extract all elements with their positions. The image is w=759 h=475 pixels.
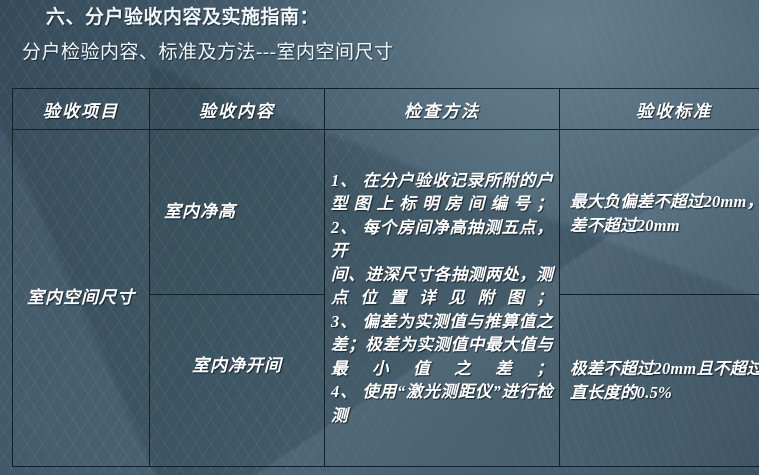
cell-inspection-method: 1、 在分户验收记录所附的户 型图上标明房间编号； 2、 每个房间净高抽测五点，…: [325, 130, 560, 467]
table-row: 室内空间尺寸 室内净高 1、 在分户验收记录所附的户 型图上标明房间编号； 2、…: [13, 130, 759, 295]
column-header-content: 验收内容: [150, 89, 325, 130]
cell-content-clear-height: 室内净高: [150, 130, 325, 295]
inspection-table: 验收项目 验收内容 检查方法 验收标准 室内空间尺寸 室内净高 1、 在分户验收…: [12, 88, 759, 467]
method-line: 1、 在分户验收记录所附的户: [331, 169, 553, 193]
method-line: 3、 偏差为实测值与推算值之: [331, 310, 553, 334]
column-header-item: 验收项目: [13, 89, 150, 130]
cell-standard-clear-height: 最大负偏差不超过20mm，极差不超过20mm: [560, 130, 759, 295]
cell-content-clear-bay: 室内净开间: [150, 295, 325, 467]
column-header-standard: 验收标准: [560, 89, 759, 130]
heading-block: 六、分户验收内容及实施指南： 分户检验内容、标准及方法---室内空间尺寸: [0, 0, 759, 65]
slide-canvas: 六、分户验收内容及实施指南： 分户检验内容、标准及方法---室内空间尺寸 验收项…: [0, 0, 759, 475]
method-line: 间、进深尺寸各抽测两处，测点位置详见附图；: [331, 263, 553, 310]
method-line: 2、 每个房间净高抽测五点，开: [331, 216, 553, 263]
method-line: 型图上标明房间编号；: [331, 192, 553, 216]
cell-standard-clear-bay: 极差不超过20mm且不超过垂直长度的0.5%: [560, 295, 759, 467]
method-line: 4、 使用“激光测距仪”进行检测: [331, 380, 553, 427]
cell-inspection-item: 室内空间尺寸: [13, 130, 150, 467]
page-title: 六、分户验收内容及实施指南：: [0, 0, 759, 31]
table-header-row: 验收项目 验收内容 检查方法 验收标准: [13, 89, 759, 130]
page-subtitle: 分户检验内容、标准及方法---室内空间尺寸: [0, 31, 759, 65]
method-line: 差；极差为实测值中最大值与最小值之差；: [331, 333, 553, 380]
inspection-table-wrapper: 验收项目 验收内容 检查方法 验收标准 室内空间尺寸 室内净高 1、 在分户验收…: [12, 88, 752, 467]
column-header-method: 检查方法: [325, 89, 560, 130]
